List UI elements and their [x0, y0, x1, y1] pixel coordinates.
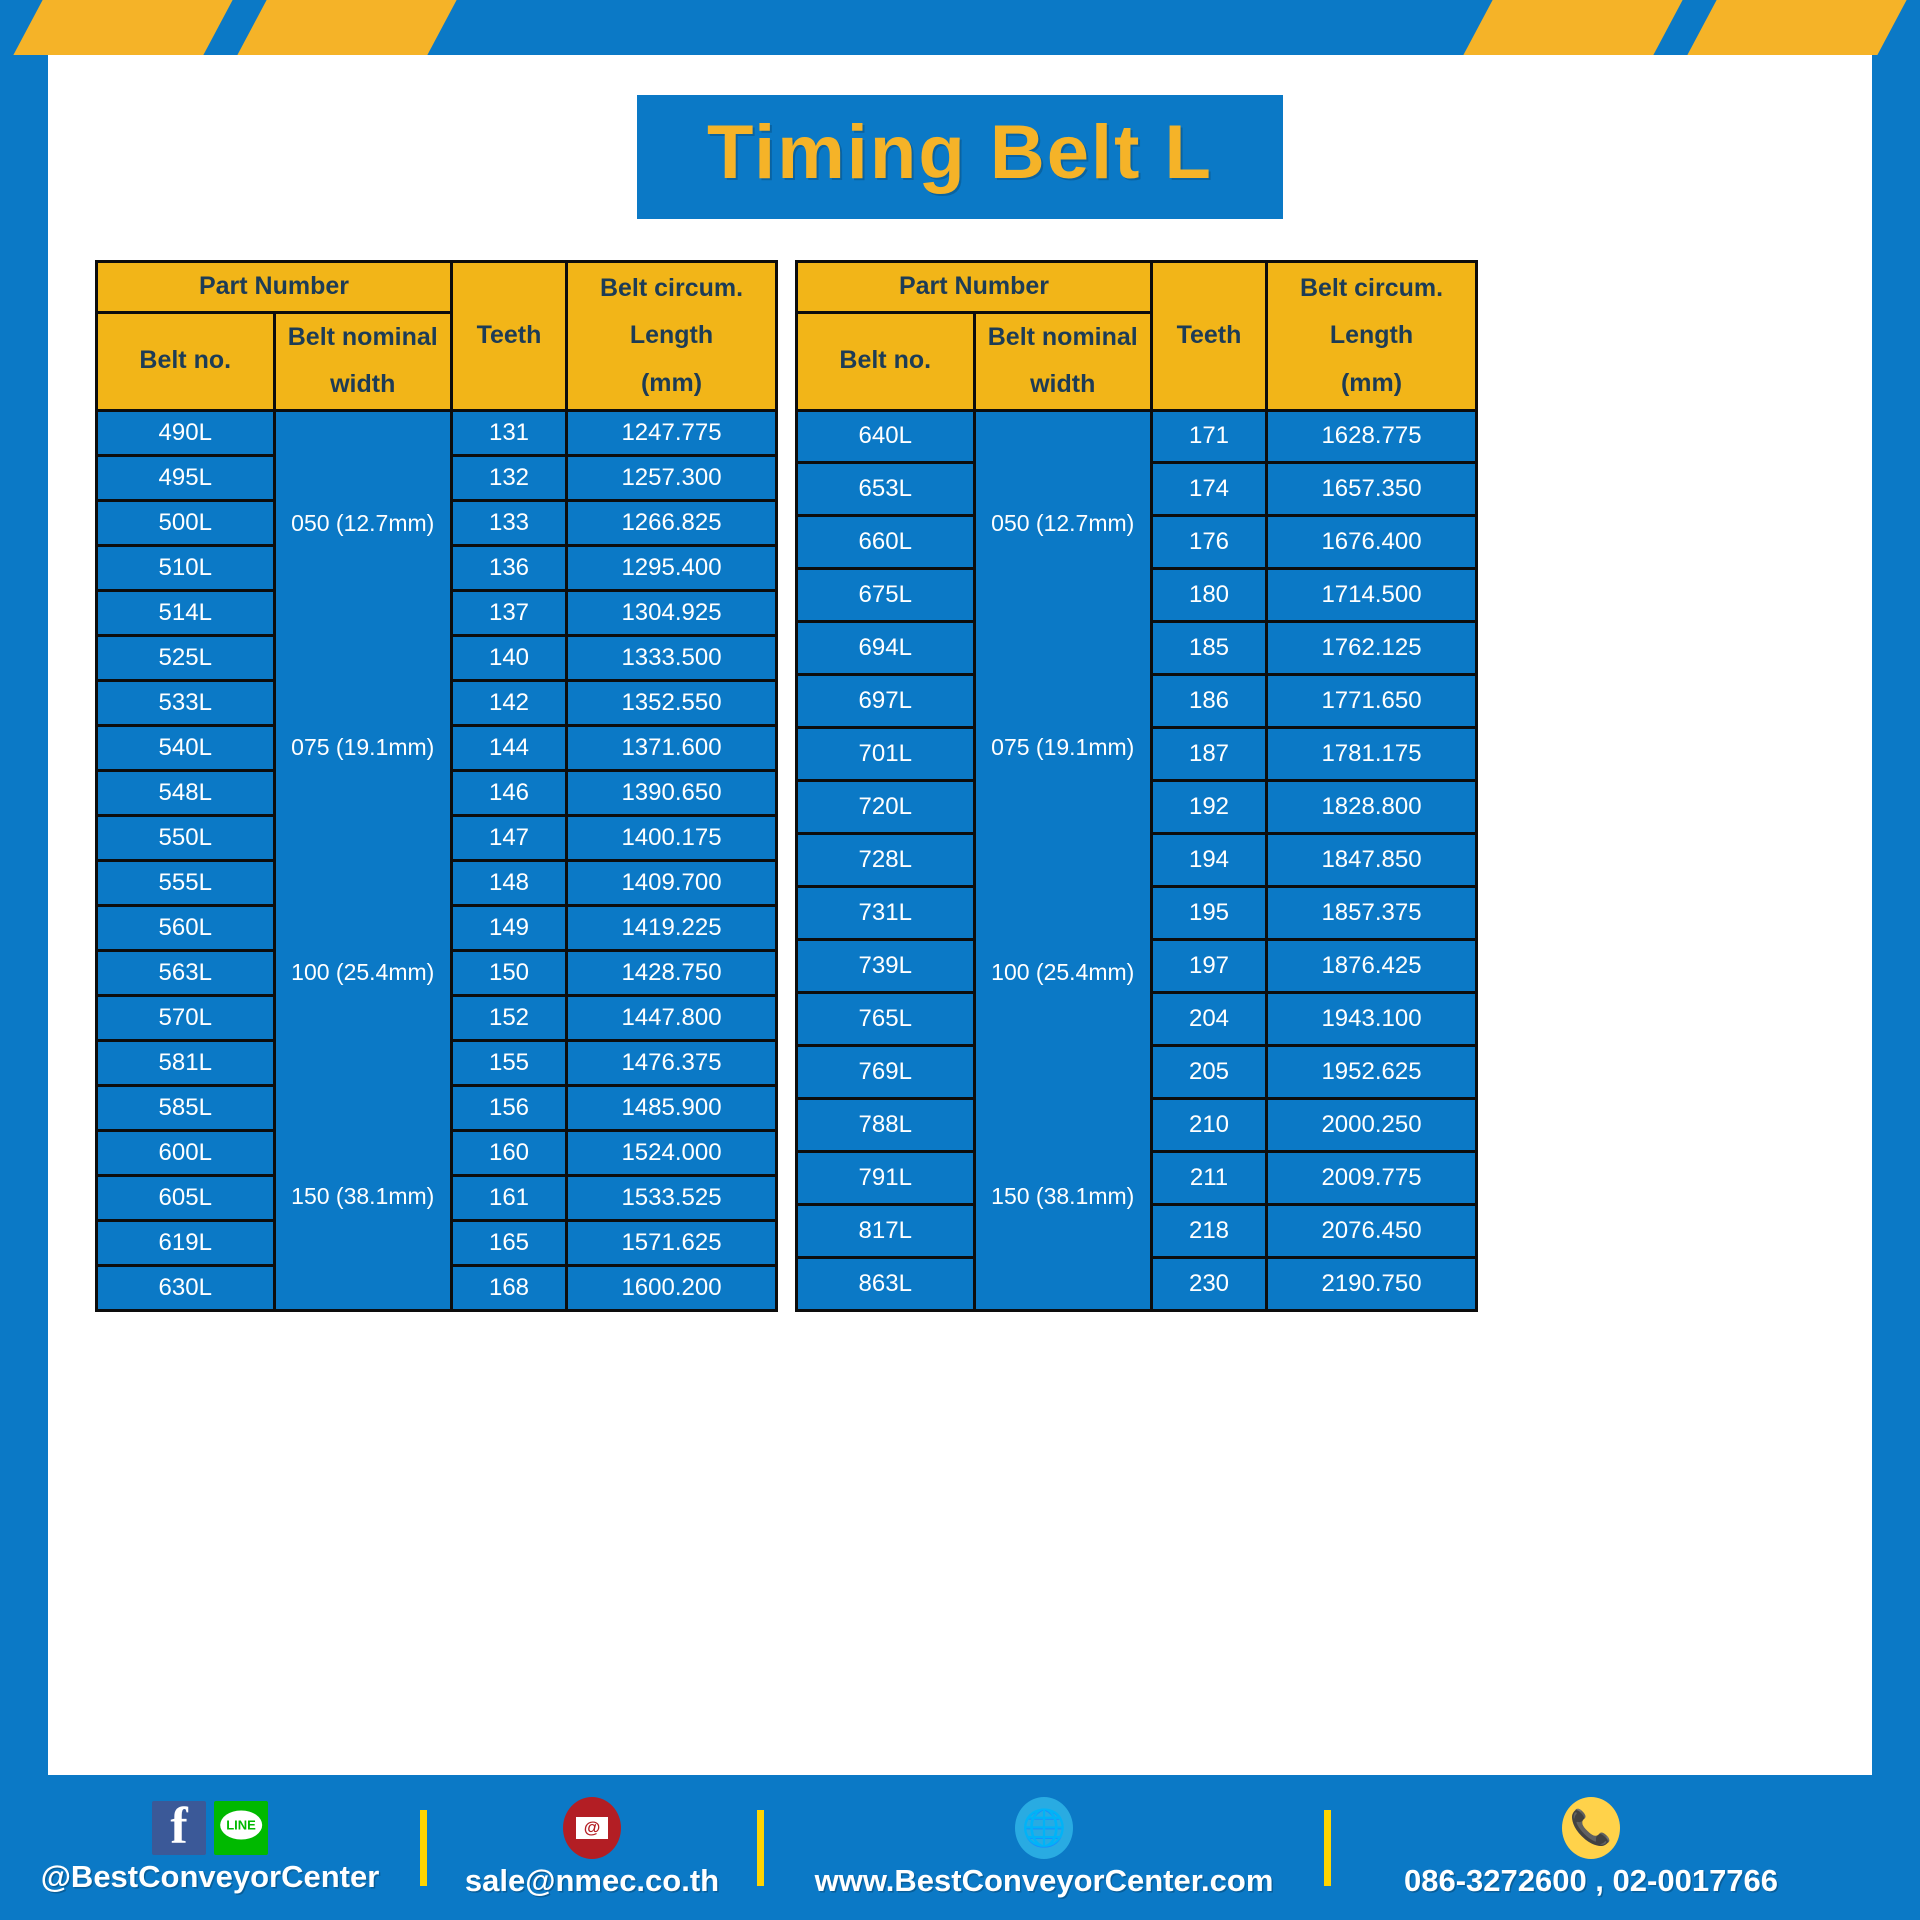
corner-stripes	[0, 0, 1920, 55]
line-icon[interactable]	[214, 1801, 268, 1855]
width-option-3: 150 (38.1mm)	[276, 1183, 451, 1210]
table-row: 490L050 (12.7mm)075 (19.1mm)100 (25.4mm)…	[97, 410, 777, 455]
cell-length: 1533.525	[567, 1175, 777, 1220]
cell-belt-no: 495L	[97, 455, 275, 500]
cell-teeth: 142	[452, 680, 567, 725]
cell-teeth: 147	[452, 815, 567, 860]
footer-phone-icons: 📞	[1562, 1797, 1620, 1859]
cell-length: 1304.925	[567, 590, 777, 635]
cell-length: 1371.600	[567, 725, 777, 770]
cell-teeth: 185	[1152, 622, 1267, 675]
header-belt-circum-line1-left: Belt circum.	[568, 265, 775, 313]
cell-teeth: 174	[1152, 463, 1267, 516]
footer-website-icons: 🌐	[1015, 1797, 1073, 1859]
stripe-left-1	[13, 0, 232, 55]
cell-belt-no: 765L	[797, 992, 975, 1045]
cell-teeth: 205	[1152, 1045, 1267, 1098]
cell-teeth: 187	[1152, 728, 1267, 781]
timing-belt-table-left: Part Number Teeth Belt circum. Length (m…	[95, 260, 778, 1312]
cell-teeth: 155	[452, 1040, 567, 1085]
header-part-number-left: Part Number	[97, 262, 452, 313]
footer-website-label: www.BestConveyorCenter.com	[815, 1863, 1274, 1899]
cell-belt-no: 600L	[97, 1130, 275, 1175]
cell-length: 1571.625	[567, 1220, 777, 1265]
cell-teeth: 149	[452, 905, 567, 950]
cell-length: 1771.650	[1267, 675, 1477, 728]
cell-belt-nominal-width: 050 (12.7mm)075 (19.1mm)100 (25.4mm)150 …	[274, 410, 452, 1310]
cell-teeth: 148	[452, 860, 567, 905]
footer-social-icons	[152, 1801, 268, 1855]
cell-teeth: 211	[1152, 1151, 1267, 1204]
header-width-line1-right: Belt nominal	[976, 314, 1151, 362]
cell-teeth: 194	[1152, 834, 1267, 887]
header-belt-circum-line3-left: (mm)	[568, 360, 775, 408]
cell-teeth: 136	[452, 545, 567, 590]
cell-length: 1714.500	[1267, 569, 1477, 622]
table-head-left: Part Number Teeth Belt circum. Length (m…	[97, 262, 777, 411]
cell-belt-no: 555L	[97, 860, 275, 905]
cell-length: 1952.625	[1267, 1045, 1477, 1098]
cell-length: 1628.775	[1267, 410, 1477, 463]
header-belt-circum-right: Belt circum. Length (mm)	[1267, 262, 1477, 411]
cell-teeth: 186	[1152, 675, 1267, 728]
globe-icon[interactable]: 🌐	[1015, 1797, 1073, 1859]
cell-length: 1390.650	[567, 770, 777, 815]
cell-teeth: 165	[452, 1220, 567, 1265]
cell-belt-no: 563L	[97, 950, 275, 995]
cell-teeth: 180	[1152, 569, 1267, 622]
footer-divider-1	[420, 1810, 427, 1886]
header-width-line2-right: width	[976, 361, 1151, 409]
cell-teeth: 140	[452, 635, 567, 680]
cell-teeth: 197	[1152, 939, 1267, 992]
phone-icon[interactable]: 📞	[1562, 1797, 1620, 1859]
stripe-right-1	[1463, 0, 1682, 55]
cell-belt-no: 619L	[97, 1220, 275, 1265]
cell-length: 1657.350	[1267, 463, 1477, 516]
cell-belt-no: 701L	[797, 728, 975, 781]
header-belt-circum-line2-left: Length	[568, 312, 775, 360]
cell-teeth: 171	[1152, 410, 1267, 463]
footer-bar: @BestConveyorCenter sale@nmec.co.th 🌐 ww…	[0, 1775, 1920, 1920]
cell-belt-no: 739L	[797, 939, 975, 992]
cell-length: 1828.800	[1267, 781, 1477, 834]
stripe-left-2	[237, 0, 456, 55]
cell-belt-no: 560L	[97, 905, 275, 950]
cell-length: 1247.775	[567, 410, 777, 455]
timing-belt-table-right: Part Number Teeth Belt circum. Length (m…	[795, 260, 1478, 1312]
cell-length: 1762.125	[1267, 622, 1477, 675]
footer-website-group[interactable]: 🌐 www.BestConveyorCenter.com	[764, 1797, 1324, 1899]
cell-teeth: 160	[452, 1130, 567, 1175]
width-option-1: 075 (19.1mm)	[976, 734, 1151, 761]
header-row-top-left: Part Number Teeth Belt circum. Length (m…	[97, 262, 777, 313]
width-option-2: 100 (25.4mm)	[976, 959, 1151, 986]
footer-email-label: sale@nmec.co.th	[465, 1863, 719, 1899]
cell-teeth: 218	[1152, 1204, 1267, 1257]
cell-belt-no: 788L	[797, 1098, 975, 1151]
cell-length: 1476.375	[567, 1040, 777, 1085]
cell-teeth: 150	[452, 950, 567, 995]
footer-social-group[interactable]: @BestConveyorCenter	[0, 1801, 420, 1895]
mail-icon[interactable]	[563, 1797, 621, 1859]
cell-length: 1876.425	[1267, 939, 1477, 992]
cell-belt-no: 675L	[797, 569, 975, 622]
cell-teeth: 161	[452, 1175, 567, 1220]
cell-length: 1266.825	[567, 500, 777, 545]
cell-length: 1781.175	[1267, 728, 1477, 781]
cell-length: 1333.500	[567, 635, 777, 680]
table-body-right: 640L050 (12.7mm)075 (19.1mm)100 (25.4mm)…	[797, 410, 1477, 1310]
header-belt-nominal-width-left: Belt nominal width	[274, 312, 452, 410]
cell-belt-no: 490L	[97, 410, 275, 455]
header-teeth-left: Teeth	[452, 262, 567, 411]
cell-teeth: 168	[452, 1265, 567, 1310]
footer-email-icons	[563, 1797, 621, 1859]
header-belt-circum-line1-right: Belt circum.	[1268, 265, 1475, 313]
width-option-0: 050 (12.7mm)	[976, 510, 1151, 537]
cell-belt-no: 548L	[97, 770, 275, 815]
cell-belt-no: 550L	[97, 815, 275, 860]
footer-social-label: @BestConveyorCenter	[41, 1859, 380, 1895]
cell-length: 2000.250	[1267, 1098, 1477, 1151]
cell-belt-no: 697L	[797, 675, 975, 728]
header-belt-nominal-width-right: Belt nominal width	[974, 312, 1152, 410]
cell-length: 2009.775	[1267, 1151, 1477, 1204]
width-option-0: 050 (12.7mm)	[276, 510, 451, 537]
cell-teeth: 204	[1152, 992, 1267, 1045]
header-belt-circum-left: Belt circum. Length (mm)	[567, 262, 777, 411]
cell-length: 2076.450	[1267, 1204, 1477, 1257]
cell-belt-no: 525L	[97, 635, 275, 680]
footer-phone-group[interactable]: 📞 086-3272600 , 02-0017766	[1331, 1797, 1851, 1899]
table-head-right: Part Number Teeth Belt circum. Length (m…	[797, 262, 1477, 411]
table-body-left: 490L050 (12.7mm)075 (19.1mm)100 (25.4mm)…	[97, 410, 777, 1310]
cell-teeth: 144	[452, 725, 567, 770]
cell-belt-no: 581L	[97, 1040, 275, 1085]
header-row-top-right: Part Number Teeth Belt circum. Length (m…	[797, 262, 1477, 313]
cell-length: 1600.200	[567, 1265, 777, 1310]
cell-belt-no: 660L	[797, 516, 975, 569]
cell-belt-no: 510L	[97, 545, 275, 590]
footer-email-group[interactable]: sale@nmec.co.th	[427, 1797, 757, 1899]
cell-belt-no: 728L	[797, 834, 975, 887]
header-belt-no-left: Belt no.	[97, 312, 275, 410]
cell-teeth: 176	[1152, 516, 1267, 569]
footer-phone-label: 086-3272600 , 02-0017766	[1404, 1863, 1778, 1899]
cell-belt-no: 694L	[797, 622, 975, 675]
cell-belt-no: 817L	[797, 1204, 975, 1257]
cell-belt-no: 769L	[797, 1045, 975, 1098]
title-wrap: Timing Belt L	[48, 95, 1872, 219]
stripe-right-2	[1687, 0, 1906, 55]
table-row: 640L050 (12.7mm)075 (19.1mm)100 (25.4mm)…	[797, 410, 1477, 463]
header-belt-circum-line2-right: Length	[1268, 312, 1475, 360]
cell-belt-no: 863L	[797, 1257, 975, 1310]
cell-length: 1295.400	[567, 545, 777, 590]
cell-belt-no: 653L	[797, 463, 975, 516]
header-teeth-right: Teeth	[1152, 262, 1267, 411]
content-card: Timing Belt L Part Number Teeth Belt cir…	[48, 55, 1872, 1775]
cell-belt-no: 720L	[797, 781, 975, 834]
header-part-number-right: Part Number	[797, 262, 1152, 313]
cell-length: 1943.100	[1267, 992, 1477, 1045]
title-box: Timing Belt L	[637, 95, 1283, 219]
cell-teeth: 131	[452, 410, 567, 455]
header-belt-circum-line3-right: (mm)	[1268, 360, 1475, 408]
cell-length: 1485.900	[567, 1085, 777, 1130]
cell-belt-nominal-width: 050 (12.7mm)075 (19.1mm)100 (25.4mm)150 …	[974, 410, 1152, 1310]
cell-belt-no: 640L	[797, 410, 975, 463]
cell-belt-no: 630L	[97, 1265, 275, 1310]
width-option-2: 100 (25.4mm)	[276, 959, 451, 986]
cell-length: 1857.375	[1267, 886, 1477, 939]
footer-divider-2	[757, 1810, 764, 1886]
cell-belt-no: 540L	[97, 725, 275, 770]
tables-container: Part Number Teeth Belt circum. Length (m…	[95, 260, 1825, 1312]
header-width-line2-left: width	[276, 361, 451, 409]
cell-length: 1352.550	[567, 680, 777, 725]
cell-belt-no: 731L	[797, 886, 975, 939]
width-option-3: 150 (38.1mm)	[976, 1183, 1151, 1210]
cell-length: 1447.800	[567, 995, 777, 1040]
cell-teeth: 230	[1152, 1257, 1267, 1310]
cell-belt-no: 500L	[97, 500, 275, 545]
facebook-icon[interactable]	[152, 1801, 206, 1855]
cell-teeth: 210	[1152, 1098, 1267, 1151]
cell-length: 1409.700	[567, 860, 777, 905]
cell-length: 1257.300	[567, 455, 777, 500]
cell-teeth: 146	[452, 770, 567, 815]
cell-teeth: 192	[1152, 781, 1267, 834]
cell-length: 1524.000	[567, 1130, 777, 1175]
cell-length: 1676.400	[1267, 516, 1477, 569]
cell-belt-no: 585L	[97, 1085, 275, 1130]
cell-teeth: 156	[452, 1085, 567, 1130]
cell-length: 1428.750	[567, 950, 777, 995]
cell-teeth: 132	[452, 455, 567, 500]
footer-divider-3	[1324, 1810, 1331, 1886]
cell-teeth: 152	[452, 995, 567, 1040]
page-title: Timing Belt L	[707, 113, 1213, 193]
header-width-line1-left: Belt nominal	[276, 314, 451, 362]
cell-belt-no: 570L	[97, 995, 275, 1040]
cell-belt-no: 605L	[97, 1175, 275, 1220]
width-option-1: 075 (19.1mm)	[276, 734, 451, 761]
cell-length: 1419.225	[567, 905, 777, 950]
cell-belt-no: 791L	[797, 1151, 975, 1204]
cell-teeth: 133	[452, 500, 567, 545]
cell-length: 1400.175	[567, 815, 777, 860]
cell-teeth: 137	[452, 590, 567, 635]
cell-belt-no: 533L	[97, 680, 275, 725]
cell-length: 1847.850	[1267, 834, 1477, 887]
cell-teeth: 195	[1152, 886, 1267, 939]
cell-belt-no: 514L	[97, 590, 275, 635]
cell-length: 2190.750	[1267, 1257, 1477, 1310]
header-belt-no-right: Belt no.	[797, 312, 975, 410]
